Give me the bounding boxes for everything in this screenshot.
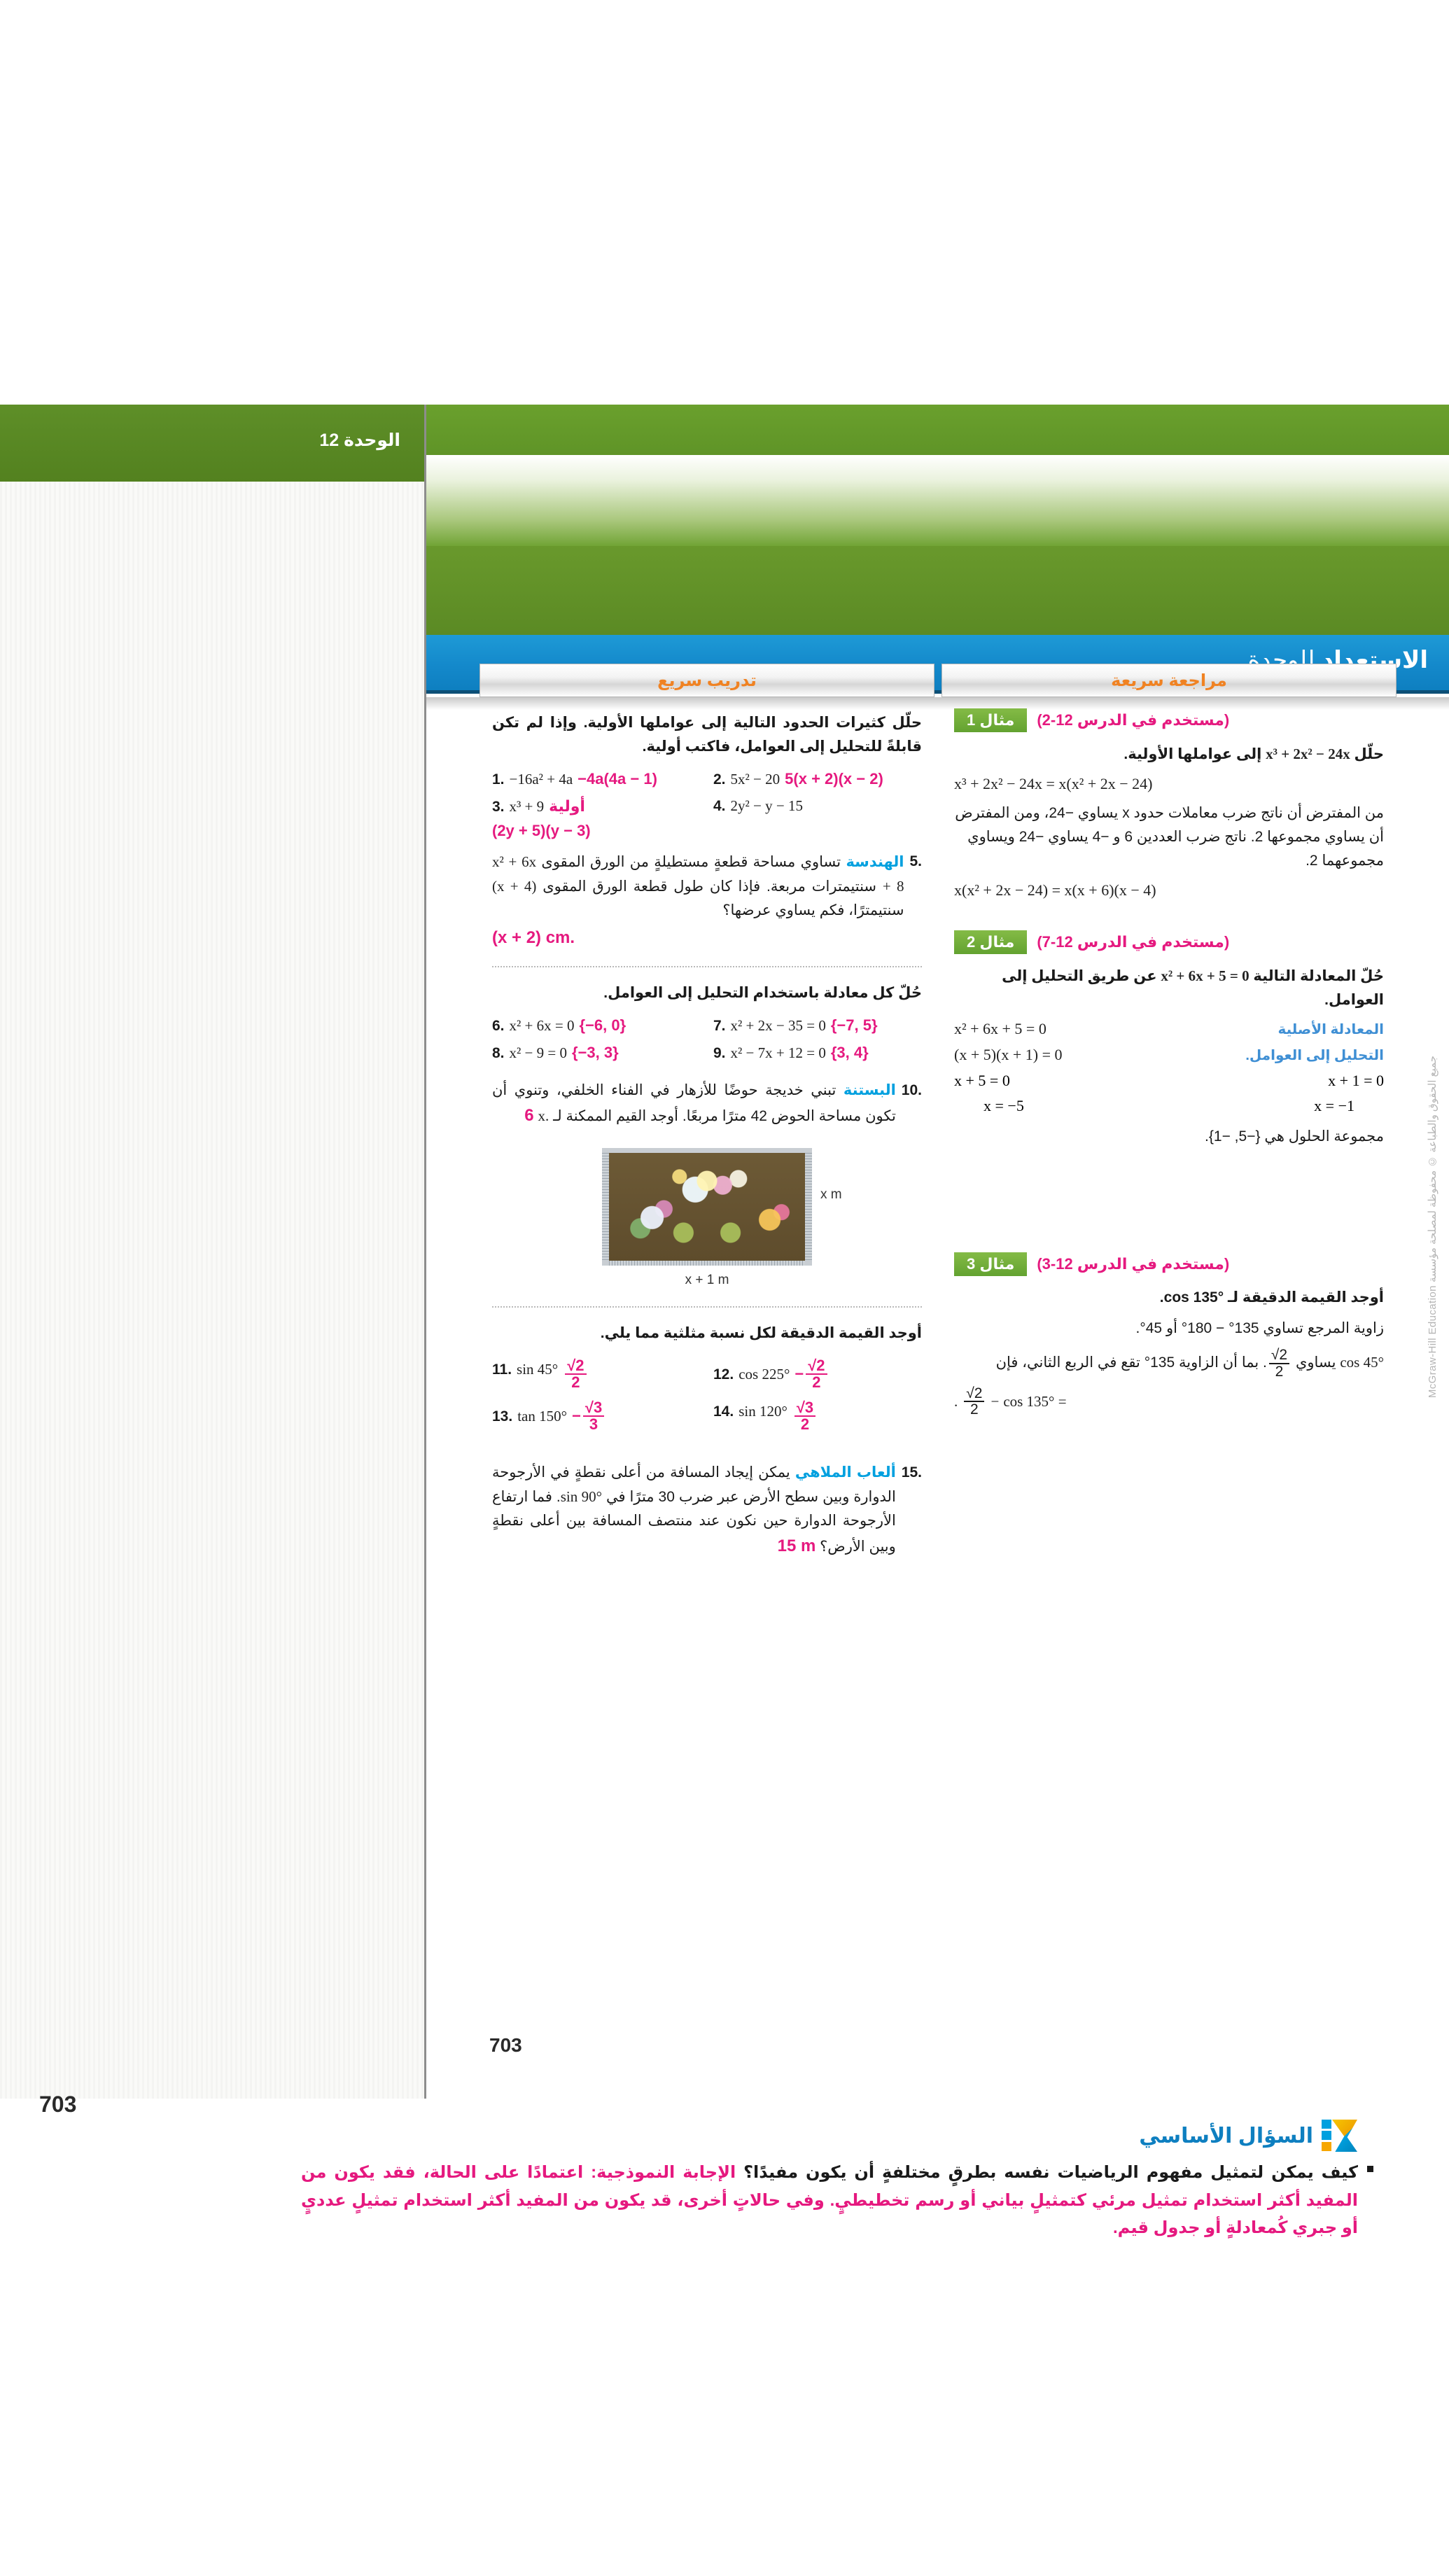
example-2-conclusion: مجموعة الحلول هي {−5, −1}. xyxy=(954,1125,1384,1149)
practice-row-6-7: 7. x² + 2x − 35 = 0 {−7, 5} 6. x² + 6x =… xyxy=(492,1016,922,1035)
example-2-branch-row-1: x + 5 = 0 x + 1 = 0 xyxy=(954,1072,1384,1090)
example-2-header: مثال 2 (مستخدم في الدرس 12-7) xyxy=(954,930,1384,954)
practice-intro-3: أوجد القيمة الدقيقة لكل نسبة مثلثية مما … xyxy=(492,1322,922,1345)
example-3-frac-2: √22 xyxy=(964,1386,984,1417)
practice-item-5: 5. الهندسة تساوي مساحة قطعةٍ مستطيلةٍ من… xyxy=(492,850,922,923)
topic-amusement-park: ألعاب الملاهي xyxy=(795,1464,896,1480)
answer-15: 15 m xyxy=(778,1536,816,1555)
ruler-bottom xyxy=(609,1261,805,1266)
example-2-branch-row-2: x = −5 x = −1 xyxy=(954,1097,1384,1115)
practice-item-15: 15. ألعاب الملاهي يمكن إيجاد المسافة من … xyxy=(492,1461,922,1560)
answer-6: {−6, 0} xyxy=(580,1016,626,1035)
page-body: الاستعداد للوحدة جميع الحقوق والطباعة © … xyxy=(424,405,1449,2099)
essential-question-icon xyxy=(1322,2120,1358,2152)
practice-item-1: 1. −16a² + 4a −4a(4a − 1) xyxy=(492,770,701,788)
example-3-header: مثال 3 (مستخدم في الدرس 12-3) xyxy=(954,1252,1384,1276)
practice-item-3: 3. x³ + 9 أولية xyxy=(492,797,701,815)
example-2-step-1-note: المعادلة الأصلية xyxy=(1277,1021,1384,1038)
column-quick-review: مثال 1 (مستخدم في الدرس 12-2) حلّل x³ + … xyxy=(941,701,1396,1570)
practice-item-6: 6. x² + 6x = 0 {−6, 0} xyxy=(492,1016,701,1035)
example-2-branch-right-1: x + 1 = 0 xyxy=(1328,1072,1384,1090)
answer-11: √22 xyxy=(563,1358,588,1391)
example-2-branch-left-2: x = −5 xyxy=(983,1097,1024,1115)
essential-question-header: السؤال الأساسي xyxy=(1139,2120,1358,2152)
example-3-line-1: زاوية المرجع تساوي 135° − 180° أو 45°. xyxy=(954,1317,1384,1340)
example-2-prompt-expr: x² + 6x + 5 = 0 xyxy=(1161,967,1249,984)
example-3-line-2: cos 45° يساوي √22. بما أن الزاوية 135° ت… xyxy=(954,1347,1384,1379)
practice-row-8-9: 9. x² − 7x + 12 = 0 {3, 4} 8. x² − 9 = 0… xyxy=(492,1044,922,1062)
example-2-lesson-ref: (مستخدم في الدرس 12-7) xyxy=(1037,933,1229,951)
topic-gardening: البستنة xyxy=(843,1082,896,1098)
example-3-frac-1: √22 xyxy=(1269,1347,1289,1379)
example-1-prompt-b: إلى عواملها الأولية. xyxy=(1123,746,1266,762)
practice-item-14: 14. sin 120° √32 xyxy=(713,1400,922,1433)
copyright-credit: جميع الحقوق والطباعة © محفوظة لمصلحة مؤس… xyxy=(1427,1056,1439,1398)
example-2-badge: مثال 2 xyxy=(954,930,1027,954)
example-1-header: مثال 1 (مستخدم في الدرس 12-2) xyxy=(954,708,1384,732)
example-3-line-2-c: . بما أن الزاوية 135° تقع في الربع الثان… xyxy=(996,1354,1267,1371)
example-3-cos45: cos 45° xyxy=(1340,1354,1384,1371)
flowerbed-photo-block: x m x + 1 m xyxy=(602,1148,812,1288)
essential-question-text: كيف يمكن لتمثيل مفهوم الرياضيات نفسه بطر… xyxy=(743,2163,1358,2182)
essential-question-block: السؤال الأساسي كيف يمكن لتمثيل مفهوم الر… xyxy=(0,2099,1449,2330)
ruler-right xyxy=(805,1153,812,1261)
example-3-cos135: cos 135° = xyxy=(1003,1389,1066,1413)
column-headers: مراجعة سريعة تدريب سريع xyxy=(479,664,1396,697)
example-1-line-2: x(x² + 2x − 24) = x(x + 6)(x − 4) xyxy=(954,881,1384,899)
practice-item-2: 2. 5x² − 20 5(x + 2)(x − 2) xyxy=(713,770,922,788)
practice-item-10: 10. البستنة تبني خديجة حوضًا للأزهار في … xyxy=(492,1079,922,1130)
unit-tab: الوحدة 12 xyxy=(0,405,424,482)
outer-page-number: 703 xyxy=(39,2092,76,2117)
example-1-prompt-a: حلّل xyxy=(1350,746,1384,762)
example-1-lesson-ref: (مستخدم في الدرس 12-2) xyxy=(1037,711,1229,729)
example-1-explanation: من المفترض أن ناتج ضرب معاملات حدود x يس… xyxy=(954,801,1384,873)
practice-row-13-14: 14. sin 120° √32 13. tan 150° −√33 xyxy=(492,1400,922,1433)
green-band-top xyxy=(426,405,1449,455)
answer-4: (2y + 5)(y − 3) xyxy=(492,822,591,839)
example-3-line-2-b: يساوي xyxy=(1291,1354,1340,1371)
review-table: مراجعة سريعة تدريب سريع مثال 1 (مستخد xyxy=(479,664,1396,1570)
example-2-step-1-math: x² + 6x + 5 = 0 xyxy=(954,1020,1046,1038)
column-quick-practice: حلّل كثيرات الحدود التالية إلى عواملها ا… xyxy=(479,701,934,1570)
practice-intro-2: حُلّ كل معادلة باستخدام التحليل إلى العو… xyxy=(492,981,922,1005)
answer-5: (x + 2) cm. xyxy=(492,928,575,947)
photo-label-height: x m xyxy=(820,1187,842,1203)
photo-label-width: x + 1 m xyxy=(602,1273,812,1288)
example-3-badge: مثال 3 xyxy=(954,1252,1027,1276)
green-band-gradient xyxy=(426,455,1449,546)
practice-item-12: 12. cos 225° −√22 xyxy=(713,1358,922,1391)
example-2-step-1: x² + 6x + 5 = 0 المعادلة الأصلية xyxy=(954,1020,1384,1038)
flowerbed-photo xyxy=(602,1148,812,1266)
practice-item-7: 7. x² + 2x − 35 = 0 {−7, 5} xyxy=(713,1016,922,1035)
gutter-body xyxy=(0,482,424,2099)
example-1-line-1: x³ + 2x² − 24x = x(x² + 2x − 24) xyxy=(954,775,1384,793)
page-canvas: الوحدة 12 الاستعداد للوحدة جميع الحقوق و… xyxy=(0,0,1449,2576)
unit-tab-label: الوحدة 12 xyxy=(319,430,400,451)
example-1-prompt: حلّل x³ + 2x² − 24x إلى عواملها الأولية. xyxy=(954,742,1384,766)
answer-10: 6 xyxy=(524,1106,533,1125)
answer-12: −√22 xyxy=(794,1358,829,1391)
example-2-step-2-note: التحليل إلى العوامل. xyxy=(1245,1046,1384,1064)
example-2-step-2: (x + 5)(x + 1) = 0 التحليل إلى العوامل. xyxy=(954,1046,1384,1064)
green-band-bottom xyxy=(426,546,1449,635)
separator-2 xyxy=(492,1306,922,1308)
practice-item-4: 4. 2y² − y − 15 xyxy=(713,797,922,815)
example-1-badge: مثال 1 xyxy=(954,708,1027,732)
example-3-line-3: . √22 − cos 135° = xyxy=(954,1386,1384,1417)
flowerbed-photo-image xyxy=(609,1153,805,1261)
answer-9: {3, 4} xyxy=(831,1044,869,1062)
answer-8: {−3, 3} xyxy=(572,1044,619,1062)
practice-item-11: 11. sin 45° √22 xyxy=(492,1358,701,1391)
example-2-branch-right-2: x = −1 xyxy=(1314,1097,1354,1115)
ruler-left xyxy=(602,1153,609,1261)
essential-question-title: السؤال الأساسي xyxy=(1139,2124,1313,2148)
essential-question-bullet xyxy=(1367,2166,1373,2172)
example-2-step-2-math: (x + 5)(x + 1) = 0 xyxy=(954,1046,1063,1064)
answer-3: أولية xyxy=(549,797,585,815)
answer-13: −√33 xyxy=(572,1400,606,1433)
topic-geometry: الهندسة xyxy=(846,854,904,870)
example-2-prompt: حُلّ المعادلة التالية x² + 6x + 5 = 0 عن… xyxy=(954,964,1384,1012)
example-2-prompt-a: حُلّ المعادلة التالية xyxy=(1249,968,1384,984)
essential-question-body: كيف يمكن لتمثيل مفهوم الرياضيات نفسه بطر… xyxy=(301,2159,1358,2242)
practice-row-3-4: 4. 2y² − y − 15 3. x³ + 9 أولية xyxy=(492,797,922,815)
sheet-page-number: 703 xyxy=(489,2034,522,2057)
column-header-review: مراجعة سريعة xyxy=(941,664,1396,697)
practice-row-1-2: 2. 5x² − 20 5(x + 2)(x − 2) 1. −16a² + 4… xyxy=(492,770,922,788)
example-3-minus-sign: − xyxy=(990,1389,999,1413)
textbook-sheet: الوحدة 12 الاستعداد للوحدة جميع الحقوق و… xyxy=(0,405,1449,2099)
example-3-period: . xyxy=(954,1389,958,1413)
page-gutter: الوحدة 12 xyxy=(0,405,424,2099)
columns-container: مثال 1 (مستخدم في الدرس 12-2) حلّل x³ + … xyxy=(479,701,1396,1570)
practice-row-11-12: 12. cos 225° −√22 11. sin 45° √22 xyxy=(492,1358,922,1391)
answer-7: {−7, 5} xyxy=(831,1016,878,1035)
answer-2: 5(x + 2)(x − 2) xyxy=(785,770,883,788)
example-3-prompt: أوجد القيمة الدقيقة لـ cos 135°. xyxy=(954,1286,1384,1310)
example-2-branch-left-1: x + 5 = 0 xyxy=(954,1072,1010,1090)
example-3-lesson-ref: (مستخدم في الدرس 12-3) xyxy=(1037,1255,1229,1273)
practice-item-9: 9. x² − 7x + 12 = 0 {3, 4} xyxy=(713,1044,922,1062)
answer-14: √32 xyxy=(792,1400,818,1433)
answer-1: −4a(4a − 1) xyxy=(577,770,657,788)
practice-intro-1: حلّل كثيرات الحدود التالية إلى عواملها ا… xyxy=(492,711,922,759)
column-header-practice: تدريب سريع xyxy=(479,664,934,697)
practice-item-13: 13. tan 150° −√33 xyxy=(492,1400,701,1433)
separator-1 xyxy=(492,966,922,967)
example-1-prompt-expr: x³ + 2x² − 24x xyxy=(1266,745,1350,762)
practice-item-8: 8. x² − 9 = 0 {−3, 3} xyxy=(492,1044,701,1062)
